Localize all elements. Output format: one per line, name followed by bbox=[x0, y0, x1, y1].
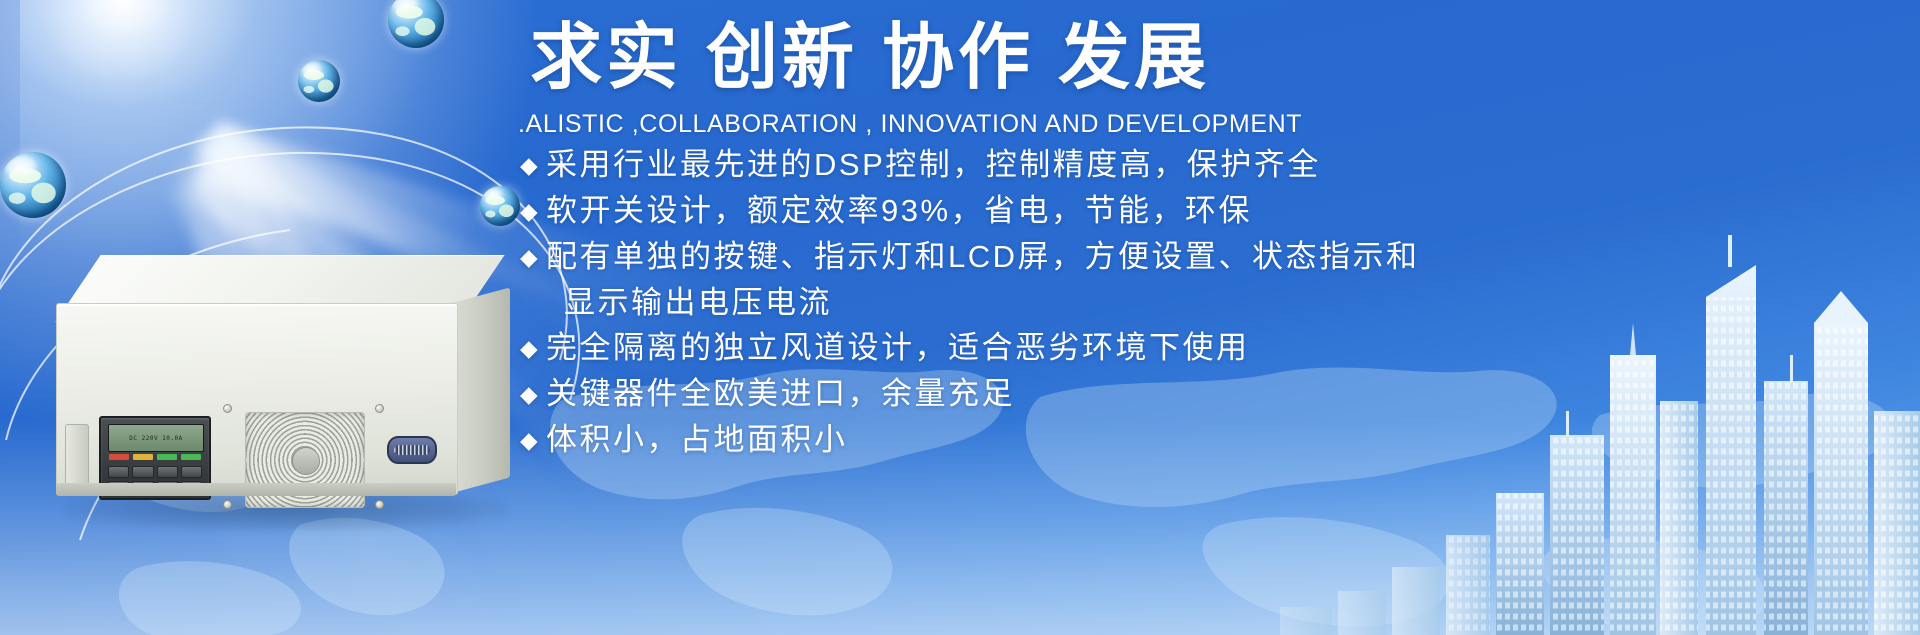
lcd-screen: DC 220V 10.0A bbox=[108, 424, 204, 452]
diamond-bullet-icon: ◆ bbox=[520, 143, 546, 188]
status-led bbox=[109, 454, 129, 460]
chassis-bottom-lip bbox=[56, 483, 456, 496]
feature-list: ◆采用行业最先进的DSP控制，控制精度高，保护齐全◆软开关设计，额定效率93%，… bbox=[520, 142, 1920, 463]
db9-serial-connector bbox=[387, 436, 437, 464]
status-led bbox=[157, 454, 177, 460]
feature-list-item-label: 完全隔离的独立风道设计，适合恶劣环境下使用 bbox=[546, 330, 1250, 365]
feature-list-item-label: 显示输出电压电流 bbox=[564, 285, 832, 320]
keypad-button[interactable] bbox=[181, 466, 202, 478]
diamond-bullet-icon: ◆ bbox=[520, 418, 546, 463]
feature-list-item-label: 配有单独的按键、指示灯和LCD屏，方便设置、状态指示和 bbox=[546, 239, 1420, 274]
status-led bbox=[133, 454, 153, 460]
rack-mount-power-supply: DC 220V 10.0A bbox=[56, 255, 516, 555]
feature-list-item: 显示输出电压电流 bbox=[520, 280, 1920, 325]
globe-icon-a bbox=[0, 152, 66, 218]
screw-hole bbox=[223, 500, 232, 509]
status-led-row bbox=[109, 454, 201, 462]
subtitle: .ALISTIC ,COLLABORATION , INNOVATION AND… bbox=[518, 110, 1302, 139]
page-title: 求实 创新 协作 发展 bbox=[530, 22, 1210, 94]
feature-list-item: ◆采用行业最先进的DSP控制，控制精度高，保护齐全 bbox=[520, 142, 1920, 188]
status-led bbox=[181, 454, 201, 460]
promo-banner: DC 220V 10.0A bbox=[0, 0, 1920, 635]
diamond-bullet-icon: ◆ bbox=[520, 235, 546, 280]
keypad-button[interactable] bbox=[157, 466, 178, 478]
feature-list-item: ◆软开关设计，额定效率93%，省电，节能，环保 bbox=[520, 188, 1920, 234]
feature-list-item-label: 体积小，占地面积小 bbox=[546, 422, 848, 457]
keypad-button[interactable] bbox=[108, 466, 129, 478]
feature-list-item-label: 软开关设计，额定效率93%，省电，节能，环保 bbox=[546, 193, 1252, 228]
feature-list-item: ◆配有单独的按键、指示灯和LCD屏，方便设置、状态指示和 bbox=[520, 234, 1920, 280]
screw-hole bbox=[375, 500, 384, 509]
keypad-button[interactable] bbox=[132, 466, 153, 478]
feature-list-item: ◆完全隔离的独立风道设计，适合恶劣环境下使用 bbox=[520, 325, 1920, 371]
diamond-bullet-icon: ◆ bbox=[520, 372, 546, 417]
chassis-handle bbox=[65, 424, 89, 490]
feature-list-item-label: 关键器件全欧美进口，余量充足 bbox=[546, 376, 1015, 411]
globe-icon-c bbox=[388, 0, 444, 48]
diamond-bullet-icon: ◆ bbox=[520, 189, 546, 234]
banner-text-block: 求实 创新 协作 发展 .ALISTIC ,COLLABORATION , IN… bbox=[500, 0, 1920, 635]
screw-hole bbox=[223, 404, 232, 413]
screw-hole bbox=[375, 404, 384, 413]
diamond-bullet-icon: ◆ bbox=[520, 326, 546, 371]
feature-list-item: ◆体积小，占地面积小 bbox=[520, 417, 1920, 463]
chassis-front-panel: DC 220V 10.0A bbox=[56, 303, 458, 495]
globe-icon-b bbox=[298, 60, 340, 102]
feature-list-item-label: 采用行业最先进的DSP控制，控制精度高，保护齐全 bbox=[546, 147, 1321, 182]
feature-list-item: ◆关键器件全欧美进口，余量充足 bbox=[520, 371, 1920, 417]
